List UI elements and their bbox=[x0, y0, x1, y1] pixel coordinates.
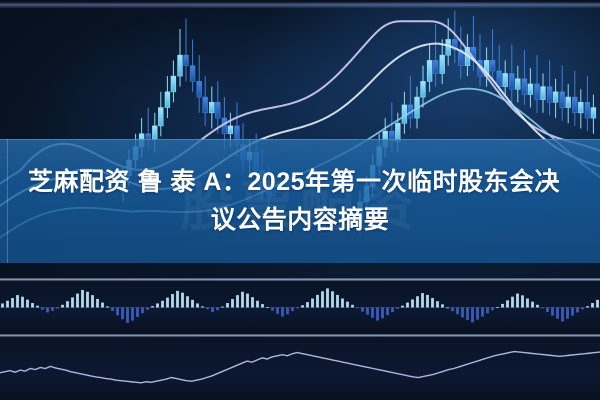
banner-image: 股票配资 芝麻配资 鲁 泰 A：2025年第一次临时股东会决 议公告内容摘要 bbox=[0, 0, 600, 400]
lower-indicators bbox=[0, 0, 600, 400]
macd-histogram-group bbox=[0, 288, 600, 322]
indicator-line-group bbox=[0, 352, 600, 383]
